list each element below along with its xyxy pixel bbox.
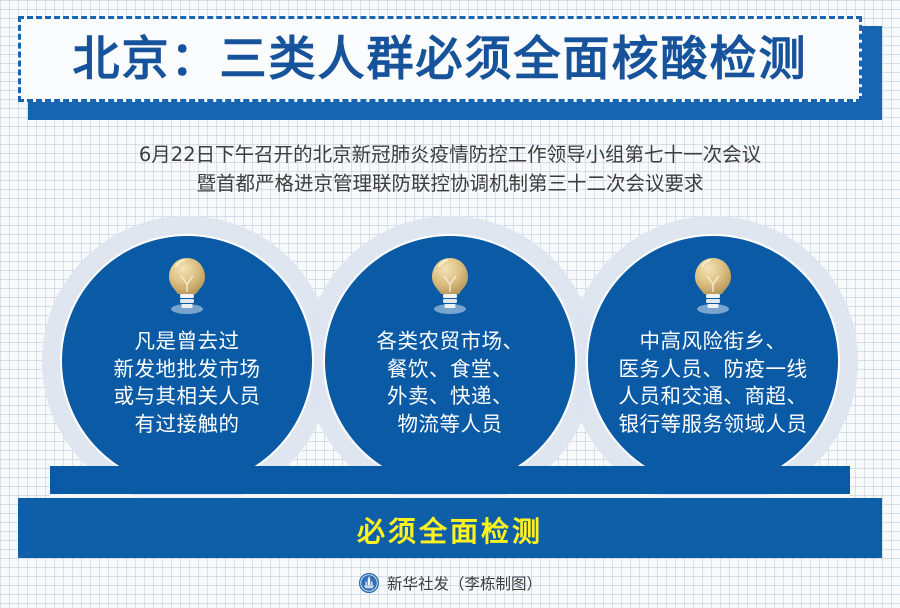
subtitle-line-2: 暨首都严格进京管理联防联控协调机制第三十二次会议要求 bbox=[0, 169, 900, 198]
subtitle-line-1: 6月22日下午召开的北京新冠肺炎疫情防控工作领导小组第七十一次会议 bbox=[0, 140, 900, 169]
circle-3-line-4: 银行等服务领域人员 bbox=[588, 411, 838, 439]
circle-3-line-3: 人员和交通、商超、 bbox=[588, 383, 838, 411]
lightbulb-icon bbox=[428, 256, 472, 318]
ribbon-shape bbox=[0, 466, 900, 566]
category-circle-2-text: 各类农贸市场、 餐饮、食堂、 外卖、快递、 物流等人员 bbox=[325, 328, 575, 438]
footer: 新华社发（李栋制图） bbox=[0, 572, 900, 594]
title-box: 北京：三类人群必须全面核酸检测 bbox=[18, 16, 862, 102]
lightbulb-icon bbox=[691, 256, 735, 318]
infographic-poster: 北京：三类人群必须全面核酸检测 6月22日下午召开的北京新冠肺炎疫情防控工作领导… bbox=[0, 0, 900, 608]
subtitle: 6月22日下午召开的北京新冠肺炎疫情防控工作领导小组第七十一次会议 暨首都严格进… bbox=[0, 140, 900, 198]
footer-credit: 新华社发（李栋制图） bbox=[387, 572, 542, 594]
xinhua-logo-icon bbox=[358, 572, 380, 594]
category-circle-3-text: 中高风险街乡、 医务人员、防疫一线 人员和交通、商超、 银行等服务领域人员 bbox=[588, 328, 838, 438]
category-circle-1: 凡是曾去过 新发地批发市场 或与其相关人员 有过接触的 bbox=[60, 234, 314, 488]
title-block: 北京：三类人群必须全面核酸检测 bbox=[18, 16, 882, 120]
circle-2-line-1: 各类农贸市场、 bbox=[325, 328, 575, 356]
category-circle-2: 各类农贸市场、 餐饮、食堂、 外卖、快递、 物流等人员 bbox=[323, 234, 577, 488]
category-circle-1-text: 凡是曾去过 新发地批发市场 或与其相关人员 有过接触的 bbox=[62, 328, 312, 438]
circle-1-line-2: 新发地批发市场 bbox=[62, 356, 312, 384]
circle-2-line-4: 物流等人员 bbox=[325, 411, 575, 439]
circle-1-line-4: 有过接触的 bbox=[62, 411, 312, 439]
circle-2-line-2: 餐饮、食堂、 bbox=[325, 356, 575, 384]
circle-3-line-1: 中高风险街乡、 bbox=[588, 328, 838, 356]
circle-3-line-2: 医务人员、防疫一线 bbox=[588, 356, 838, 384]
circle-2-line-3: 外卖、快递、 bbox=[325, 383, 575, 411]
category-circle-3: 中高风险街乡、 医务人员、防疫一线 人员和交通、商超、 银行等服务领域人员 bbox=[586, 234, 840, 488]
conclusion-ribbon: 必须全面检测 bbox=[0, 466, 900, 566]
circle-1-line-3: 或与其相关人员 bbox=[62, 383, 312, 411]
page-title: 北京：三类人群必须全面核酸检测 bbox=[73, 36, 808, 83]
circle-1-line-1: 凡是曾去过 bbox=[62, 328, 312, 356]
lightbulb-icon bbox=[165, 256, 209, 318]
